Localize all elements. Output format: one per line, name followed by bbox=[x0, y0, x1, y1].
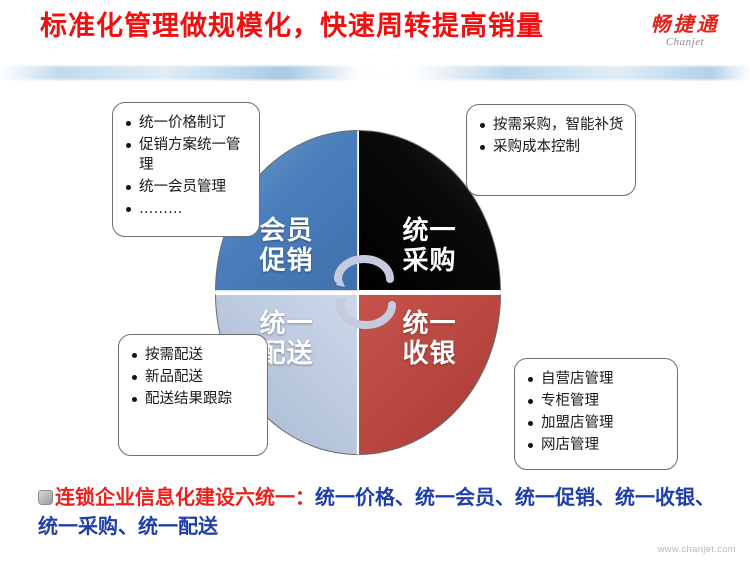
quadrant-label-line2: 收银 bbox=[402, 339, 456, 369]
list-item: 按需采购，智能补货 bbox=[493, 115, 627, 135]
note-icon bbox=[38, 490, 53, 505]
list-item: ……… bbox=[139, 199, 251, 219]
list-item: 自营店管理 bbox=[541, 369, 669, 389]
list-item: 采购成本控制 bbox=[493, 137, 627, 157]
slide-canvas: 标准化管理做规模化，快速周转提高销量 畅捷通 Chanjet 会员 促销 统一 … bbox=[0, 0, 750, 562]
header-decorative-band bbox=[0, 66, 750, 80]
callout-top-left-list: 统一价格制订 促销方案统一管理 统一会员管理 ……… bbox=[123, 113, 251, 219]
quadrant-label-line2: 采购 bbox=[402, 246, 456, 276]
list-item: 统一会员管理 bbox=[139, 177, 251, 197]
callout-bottom-left-list: 按需配送 新品配送 配送结果跟踪 bbox=[129, 345, 259, 409]
logo-english-text: Chanjet bbox=[630, 37, 740, 48]
chanjet-logo: 畅捷通 Chanjet bbox=[630, 14, 740, 48]
list-item: 配送结果跟踪 bbox=[145, 389, 259, 409]
list-item: 新品配送 bbox=[145, 367, 259, 387]
callout-top-right-list: 按需采购，智能补货 采购成本控制 bbox=[477, 115, 627, 157]
footer-website-url[interactable]: www.chanjet.com bbox=[658, 544, 736, 555]
callout-top-right: 按需采购，智能补货 采购成本控制 bbox=[466, 104, 636, 196]
list-item: 网店管理 bbox=[541, 435, 669, 455]
list-item: 统一价格制订 bbox=[139, 113, 251, 133]
quadrant-unified-cashier[interactable]: 统一 收银 bbox=[358, 294, 501, 455]
callout-bottom-left: 按需配送 新品配送 配送结果跟踪 bbox=[118, 334, 268, 456]
callout-bottom-right: 自营店管理 专柜管理 加盟店管理 网店管理 bbox=[514, 358, 678, 470]
list-item: 专柜管理 bbox=[541, 391, 669, 411]
summary-caption: 连锁企业信息化建设六统一：统一价格、统一会员、统一促销、统一收银、统一采购、统一… bbox=[38, 483, 728, 541]
callout-bottom-right-list: 自营店管理 专柜管理 加盟店管理 网店管理 bbox=[525, 369, 669, 455]
quadrant-label-line1: 会员 bbox=[259, 216, 313, 246]
quadrant-label-line2: 促销 bbox=[259, 246, 313, 276]
quadrant-label-line1: 统一 bbox=[259, 309, 313, 339]
callout-top-left: 统一价格制订 促销方案统一管理 统一会员管理 ……… bbox=[112, 102, 260, 237]
quadrant-label-unified-purchasing: 统一 采购 bbox=[359, 216, 500, 276]
caption-red-text: 连锁企业信息化建设六统一： bbox=[55, 485, 315, 509]
list-item: 加盟店管理 bbox=[541, 413, 669, 433]
quadrant-label-line1: 统一 bbox=[402, 309, 456, 339]
list-item: 按需配送 bbox=[145, 345, 259, 365]
quadrant-label-unified-cashier: 统一 收银 bbox=[359, 309, 500, 369]
page-title: 标准化管理做规模化，快速周转提高销量 bbox=[40, 10, 640, 44]
list-item: 促销方案统一管理 bbox=[139, 135, 251, 175]
quadrant-label-line1: 统一 bbox=[402, 216, 456, 246]
logo-chinese-text: 畅捷通 bbox=[630, 14, 740, 34]
